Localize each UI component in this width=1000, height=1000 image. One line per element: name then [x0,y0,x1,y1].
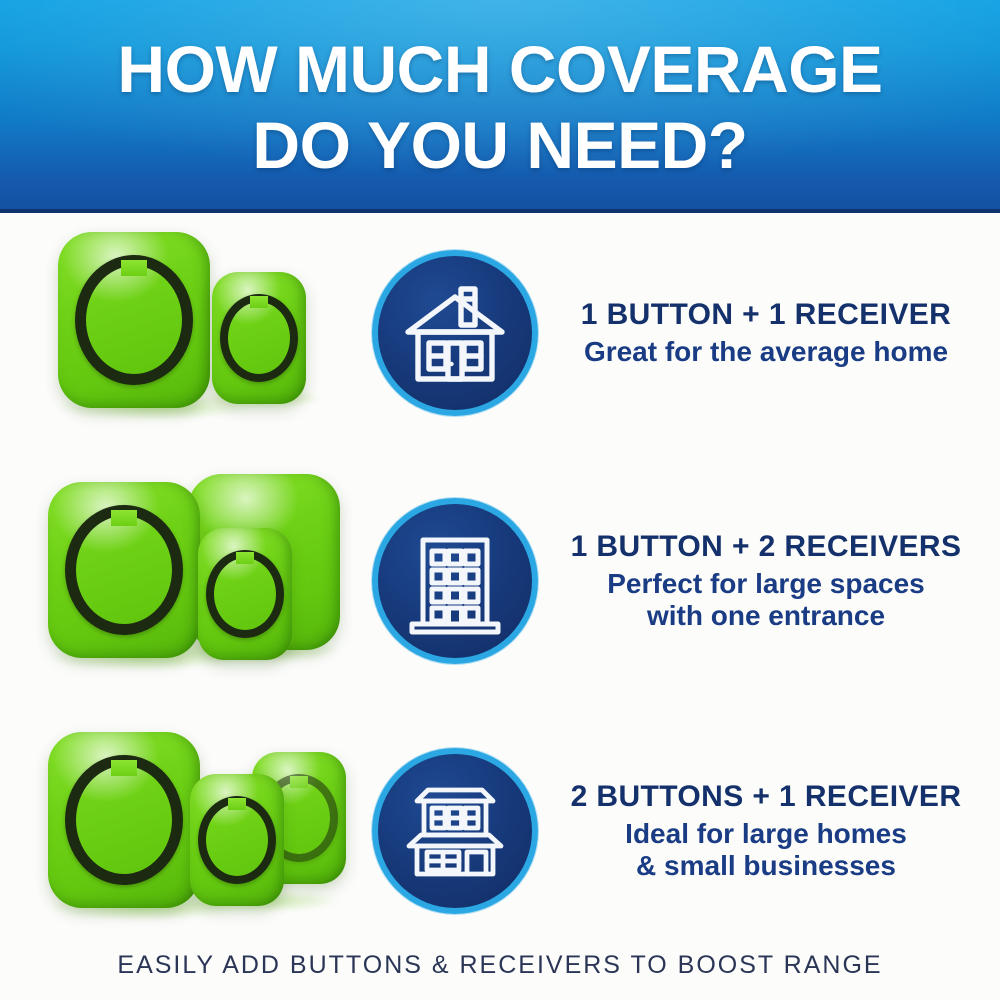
header-title-line-1: HOW MUCH COVERAGE [117,36,882,102]
button-device-small [212,272,306,404]
option-text-block: 2 BUTTONS + 1 RECEIVER Ideal for large h… [550,780,1000,882]
coverage-option-row: 1 BUTTON + 2 RECEIVERS Perfect for large… [0,461,1000,701]
button-device-small [190,774,284,906]
device-group-row-1 [20,218,350,448]
receiver-device-large [48,482,200,658]
header-title-line-2: DO YOU NEED? [252,112,747,178]
device-ring-icon [206,550,284,638]
device-ring-icon [75,255,193,385]
option-subtitle-line: Perfect for large spaces [607,568,925,600]
house-icon [372,250,538,416]
option-icon-wrap [360,486,550,676]
option-subtitle-line: Ideal for large homes [625,818,907,850]
device-ring-icon [220,294,298,382]
device-group-row-3 [20,716,350,946]
option-title: 1 BUTTON + 2 RECEIVERS [571,530,962,564]
device-ring-icon [65,755,183,885]
receiver-device-large [58,232,210,408]
coverage-option-row: 2 BUTTONS + 1 RECEIVER Ideal for large h… [0,711,1000,951]
footer-text: EASILY ADD BUTTONS & RECEIVERS TO BOOST … [117,951,882,980]
option-title: 1 BUTTON + 1 RECEIVER [581,298,951,332]
footer-banner: EASILY ADD BUTTONS & RECEIVERS TO BOOST … [0,940,1000,990]
option-subtitle-line: Great for the average home [584,336,948,368]
option-icon-wrap [360,238,550,428]
two-story-house-icon [372,748,538,914]
receiver-device-large [48,732,200,908]
device-ring-icon [198,796,276,884]
option-text-block: 1 BUTTON + 1 RECEIVER Great for the aver… [550,298,1000,368]
option-subtitle-line: with one entrance [647,600,885,632]
option-icon-wrap [360,736,550,926]
device-ring-icon [65,505,183,635]
apartment-building-icon [372,498,538,664]
option-text-block: 1 BUTTON + 2 RECEIVERS Perfect for large… [550,530,1000,632]
option-subtitle-line: & small businesses [636,850,896,882]
header-banner: HOW MUCH COVERAGE DO YOU NEED? [0,0,1000,213]
device-group-row-2 [20,466,350,696]
option-title: 2 BUTTONS + 1 RECEIVER [571,780,962,814]
coverage-options-list: 1 BUTTON + 1 RECEIVER Great for the aver… [0,213,1000,933]
button-device-small [198,528,292,660]
coverage-option-row: 1 BUTTON + 1 RECEIVER Great for the aver… [0,213,1000,453]
